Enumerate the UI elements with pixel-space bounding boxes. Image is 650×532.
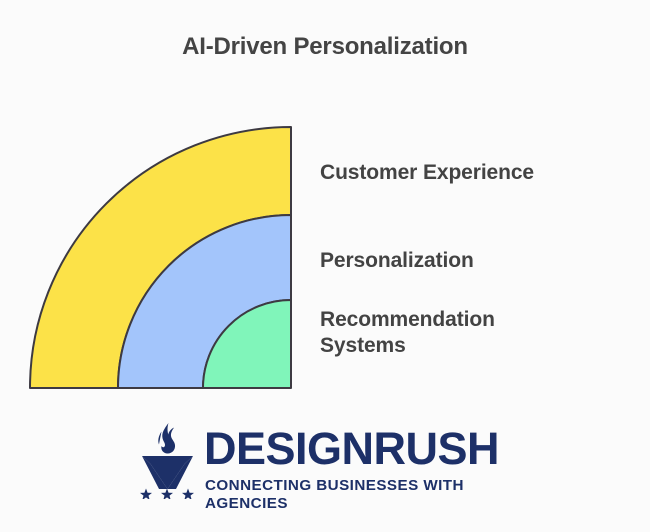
star-icon (182, 489, 194, 500)
torch-flame-icon (137, 421, 197, 499)
logo-wordmark: DESIGNRUSH (204, 425, 499, 473)
designrush-logo[interactable]: DESIGNRUSH CONNECTING BUSINESSES WITH AG… (137, 421, 537, 506)
legend-label-line-2: Systems (320, 333, 495, 359)
star-icon (161, 489, 173, 500)
legend-label-recommendation-systems: Recommendation Systems (320, 307, 495, 359)
logo-tagline: CONNECTING BUSINESSES WITH AGENCIES (205, 477, 537, 513)
legend-label-line-1: Recommendation (320, 307, 495, 333)
legend-label-customer-experience: Customer Experience (320, 160, 534, 186)
legend-label-personalization: Personalization (320, 248, 474, 274)
star-icon (140, 489, 152, 500)
infographic-canvas: AI-Driven Personalization Customer Exper… (0, 0, 650, 532)
